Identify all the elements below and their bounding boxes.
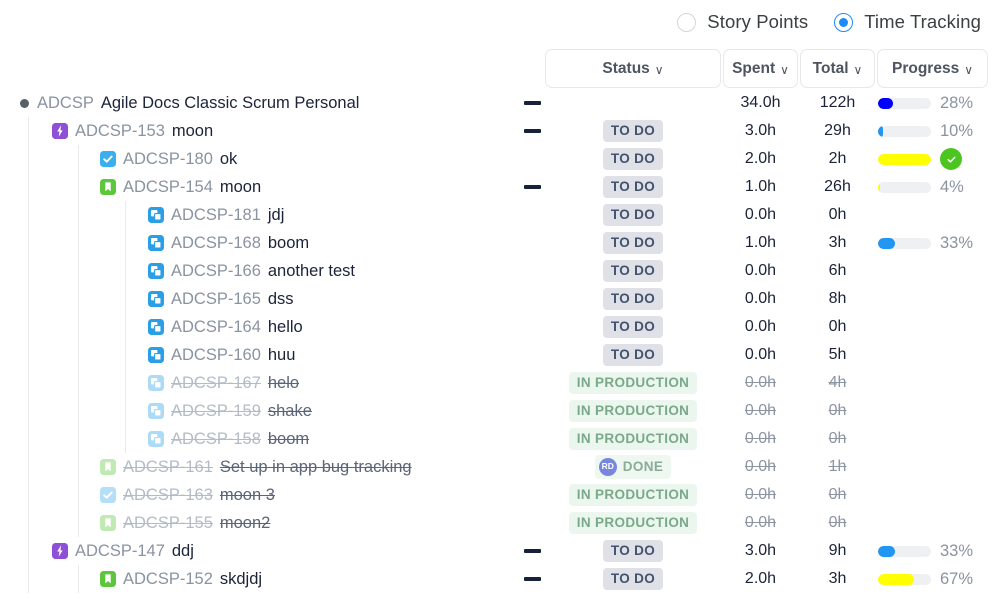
task-icon [100, 151, 116, 167]
status-cell: TO DO [545, 260, 721, 282]
progress-bar-fill [878, 154, 931, 165]
status-cell: TO DO [545, 316, 721, 338]
issue-row[interactable]: ADCSP-163moon 3IN PRODUCTION0.0h0h [0, 481, 999, 509]
status-badge[interactable]: IN PRODUCTION [569, 400, 698, 422]
subtask-icon [148, 207, 164, 223]
issue-row[interactable]: ADCSP-159shakeIN PRODUCTION0.0h0h [0, 397, 999, 425]
total-value: 5h [800, 346, 875, 364]
issue-title-cell[interactable]: ADCSP-168boom [148, 234, 309, 253]
issue-summary[interactable]: huu [268, 346, 296, 365]
status-cell: IN PRODUCTION [545, 372, 721, 394]
status-badge-label: TO DO [611, 263, 655, 279]
progress-cell: 28% [878, 94, 993, 113]
status-badge-label: TO DO [611, 543, 655, 559]
issue-title-cell[interactable]: ADCSPAgile Docs Classic Scrum Personal [20, 94, 359, 113]
issue-summary[interactable]: moon 3 [220, 486, 275, 505]
issue-key[interactable]: ADCSP-180 [123, 150, 213, 169]
issue-row[interactable]: ADCSP-180okTO DO2.0h2h [0, 145, 999, 173]
total-value: 3h [800, 234, 875, 252]
issue-title-cell[interactable]: ADCSP-180ok [100, 150, 237, 169]
issue-key[interactable]: ADCSP-166 [171, 262, 261, 281]
issue-row[interactable]: ADCSP-164helloTO DO0.0h0h [0, 313, 999, 341]
total-value: 9h [800, 542, 875, 560]
issue-title-cell[interactable]: ADCSP-152skdjdj [100, 570, 262, 589]
subtask-icon [148, 291, 164, 307]
status-badge[interactable]: IN PRODUCTION [569, 484, 698, 506]
spent-value: 0.0h [723, 402, 798, 420]
issue-row[interactable]: ADCSP-168boomTO DO1.0h3h33% [0, 229, 999, 257]
total-value: 0h [800, 402, 875, 420]
issue-title-cell[interactable]: ADCSP-159shake [148, 402, 312, 421]
issue-key[interactable]: ADCSP-164 [171, 318, 261, 337]
issue-title-cell[interactable]: ADCSP-181jdj [148, 206, 284, 225]
status-badge-label: IN PRODUCTION [577, 403, 690, 419]
status-badge-label: IN PRODUCTION [577, 515, 690, 531]
progress-bar-track [878, 546, 931, 557]
subtask-icon [148, 235, 164, 251]
issue-summary[interactable]: boom [268, 234, 309, 253]
status-badge-label: TO DO [611, 291, 655, 307]
progress-cell: 33% [878, 234, 993, 253]
issue-title-cell[interactable]: ADCSP-154moon [100, 178, 261, 197]
issue-summary[interactable]: moon2 [220, 514, 270, 533]
total-value: 6h [800, 262, 875, 280]
total-value: 122h [800, 94, 875, 112]
status-badge[interactable]: TO DO [603, 148, 663, 170]
subtask-icon [148, 319, 164, 335]
progress-percent: 33% [940, 234, 973, 253]
total-value: 0h [800, 206, 875, 224]
status-badge-label: TO DO [611, 151, 655, 167]
progress-bar-fill [878, 574, 914, 585]
status-badge-label: DONE [623, 459, 663, 475]
issue-key[interactable]: ADCSP-161 [123, 458, 213, 477]
status-badge-label: TO DO [611, 179, 655, 195]
issue-title-cell[interactable]: ADCSP-163moon 3 [100, 486, 275, 505]
status-badge-label: TO DO [611, 571, 655, 587]
subtask-icon [148, 403, 164, 419]
status-badge[interactable]: TO DO [603, 540, 663, 562]
spent-value: 0.0h [723, 206, 798, 224]
issue-row[interactable]: ADCSP-155moon2IN PRODUCTION0.0h0h [0, 509, 999, 537]
issue-key[interactable]: ADCSP-153 [75, 122, 165, 141]
progress-percent: 67% [940, 570, 973, 589]
issue-row[interactable]: ADCSP-161Set up in app bug trackingRDDON… [0, 453, 999, 481]
progress-bar-track [878, 98, 931, 109]
status-cell: TO DO [545, 120, 721, 142]
status-badge[interactable]: IN PRODUCTION [569, 512, 698, 534]
issue-summary[interactable]: boom [268, 430, 309, 449]
status-badge-label: IN PRODUCTION [577, 431, 690, 447]
status-badge[interactable]: TO DO [603, 204, 663, 226]
issue-title-cell[interactable]: ADCSP-164hello [148, 318, 303, 337]
issue-row[interactable]: ADCSP-160huuTO DO0.0h5h [0, 341, 999, 369]
progress-bar-fill [878, 126, 883, 137]
epic-icon [52, 123, 68, 139]
issue-key[interactable]: ADCSP-165 [171, 290, 261, 309]
progress-percent: 4% [940, 178, 964, 197]
issue-row[interactable]: ADCSP-152skdjdjTO DO2.0h3h67% [0, 565, 999, 593]
complete-check-icon [940, 148, 962, 170]
issue-row[interactable]: ADCSP-158boomIN PRODUCTION0.0h0h [0, 425, 999, 453]
issue-title-cell[interactable]: ADCSP-161Set up in app bug tracking [100, 458, 412, 477]
bullet-icon [20, 99, 29, 108]
progress-bar-fill [878, 238, 895, 249]
issue-summary[interactable]: another test [268, 262, 355, 281]
status-cell: TO DO [545, 540, 721, 562]
issue-row[interactable]: ADCSP-181jdjTO DO0.0h0h [0, 201, 999, 229]
status-cell: TO DO [545, 176, 721, 198]
status-badge-label: TO DO [611, 123, 655, 139]
collapse-dash-icon[interactable] [524, 577, 541, 581]
issue-row[interactable]: ADCSP-166another testTO DO0.0h6h [0, 257, 999, 285]
total-value: 0h [800, 430, 875, 448]
issue-key[interactable]: ADCSP-155 [123, 514, 213, 533]
progress-cell: 10% [878, 122, 993, 141]
issue-title-cell[interactable]: ADCSP-158boom [148, 430, 309, 449]
spent-value: 2.0h [723, 570, 798, 588]
spent-value: 0.0h [723, 318, 798, 336]
total-value: 2h [800, 150, 875, 168]
issue-summary[interactable]: ok [220, 150, 237, 169]
spent-value: 0.0h [723, 430, 798, 448]
issue-key[interactable]: ADCSP-154 [123, 178, 213, 197]
progress-bar-track [878, 126, 931, 137]
progress-percent: 28% [940, 94, 973, 113]
collapse-dash-icon[interactable] [524, 185, 541, 189]
story-icon [100, 459, 116, 475]
progress-bar-track [878, 182, 931, 193]
issue-row[interactable]: ADCSP-147ddjTO DO3.0h9h33% [0, 537, 999, 565]
issue-key[interactable]: ADCSP-159 [171, 402, 261, 421]
status-badge-label: TO DO [611, 347, 655, 363]
issue-summary[interactable]: helo [268, 374, 299, 393]
progress-percent: 10% [940, 122, 973, 141]
status-badge[interactable]: TO DO [603, 176, 663, 198]
subtask-icon [148, 263, 164, 279]
issue-summary[interactable]: hello [268, 318, 303, 337]
avatar: RD [599, 458, 617, 476]
status-cell: IN PRODUCTION [545, 484, 721, 506]
spent-value: 34.0h [723, 94, 798, 112]
issue-title-cell[interactable]: ADCSP-167helo [148, 374, 299, 393]
issue-key[interactable]: ADCSP-163 [123, 486, 213, 505]
status-cell: RDDONE [545, 455, 721, 479]
status-cell: TO DO [545, 232, 721, 254]
spent-value: 0.0h [723, 290, 798, 308]
progress-cell: 67% [878, 570, 993, 589]
spent-value: 0.0h [723, 374, 798, 392]
story-icon [100, 515, 116, 531]
status-badge[interactable]: IN PRODUCTION [569, 428, 698, 450]
status-badge[interactable]: TO DO [603, 232, 663, 254]
issue-summary[interactable]: shake [268, 402, 312, 421]
issue-row[interactable]: ADCSP-165dssTO DO0.0h8h [0, 285, 999, 313]
status-badge[interactable]: TO DO [603, 120, 663, 142]
issue-row[interactable]: ADCSP-167heloIN PRODUCTION0.0h4h [0, 369, 999, 397]
progress-cell: 33% [878, 542, 993, 561]
issue-summary[interactable]: jdj [268, 206, 285, 225]
status-cell: TO DO [545, 148, 721, 170]
issue-key[interactable]: ADCSP-160 [171, 346, 261, 365]
spent-value: 0.0h [723, 514, 798, 532]
spent-value: 0.0h [723, 486, 798, 504]
spent-value: 3.0h [723, 542, 798, 560]
collapse-dash-icon[interactable] [524, 549, 541, 553]
issue-row[interactable]: ADCSP-154moonTO DO1.0h26h4% [0, 173, 999, 201]
progress-percent: 33% [940, 542, 973, 561]
spent-value: 0.0h [723, 346, 798, 364]
total-value: 3h [800, 570, 875, 588]
issue-key[interactable]: ADCSP-147 [75, 542, 165, 561]
progress-bar-fill [878, 98, 893, 109]
total-value: 0h [800, 486, 875, 504]
task-icon [100, 487, 116, 503]
spent-value: 2.0h [723, 150, 798, 168]
status-badge-label: IN PRODUCTION [577, 375, 690, 391]
issue-title-cell[interactable]: ADCSP-165dss [148, 290, 294, 309]
progress-bar-track [878, 574, 931, 585]
issue-summary[interactable]: moon [220, 178, 261, 197]
status-badge[interactable]: TO DO [603, 316, 663, 338]
spent-value: 1.0h [723, 178, 798, 196]
issue-key[interactable]: ADCSP-152 [123, 570, 213, 589]
subtask-icon [148, 347, 164, 363]
issue-summary[interactable]: Set up in app bug tracking [220, 458, 412, 477]
progress-bar-fill [878, 546, 895, 557]
spent-value: 3.0h [723, 122, 798, 140]
total-value: 0h [800, 514, 875, 532]
issue-key[interactable]: ADCSP-168 [171, 234, 261, 253]
status-cell: TO DO [545, 204, 721, 226]
spent-value: 0.0h [723, 458, 798, 476]
issue-row[interactable]: ADCSP-153moonTO DO3.0h29h10% [0, 117, 999, 145]
status-badge[interactable]: IN PRODUCTION [569, 372, 698, 394]
status-cell: IN PRODUCTION [545, 512, 721, 534]
subtask-icon [148, 375, 164, 391]
issue-summary[interactable]: skdjdj [220, 570, 262, 589]
collapse-dash-icon[interactable] [524, 101, 541, 105]
status-badge[interactable]: TO DO [603, 288, 663, 310]
status-cell: TO DO [545, 568, 721, 590]
issue-title-cell[interactable]: ADCSP-160huu [148, 346, 295, 365]
total-value: 29h [800, 122, 875, 140]
status-cell: IN PRODUCTION [545, 400, 721, 422]
status-badge-label: IN PRODUCTION [577, 487, 690, 503]
collapse-dash-icon[interactable] [524, 129, 541, 133]
progress-bar-track [878, 238, 931, 249]
issue-title-cell[interactable]: ADCSP-166another test [148, 262, 355, 281]
subtask-icon [148, 431, 164, 447]
issue-key[interactable]: ADCSP-167 [171, 374, 261, 393]
story-icon [100, 179, 116, 195]
issue-key[interactable]: ADCSP [37, 94, 94, 113]
issue-summary[interactable]: moon [172, 122, 213, 141]
total-value: 26h [800, 178, 875, 196]
epic-icon [52, 543, 68, 559]
status-cell: TO DO [545, 288, 721, 310]
progress-cell: 4% [878, 178, 993, 197]
issue-summary[interactable]: ddj [172, 542, 194, 561]
issue-summary[interactable]: Agile Docs Classic Scrum Personal [101, 94, 360, 113]
total-value: 4h [800, 374, 875, 392]
issue-title-cell[interactable]: ADCSP-155moon2 [100, 514, 270, 533]
issue-tree: ADCSPAgile Docs Classic Scrum Personal34… [0, 89, 999, 593]
issue-key[interactable]: ADCSP-181 [171, 206, 261, 225]
status-badge[interactable]: RDDONE [595, 455, 671, 479]
status-badge[interactable]: TO DO [603, 568, 663, 590]
total-value: 0h [800, 318, 875, 336]
status-cell: TO DO [545, 344, 721, 366]
progress-bar-track [878, 154, 931, 165]
progress-cell [878, 148, 993, 170]
status-badge[interactable]: TO DO [603, 260, 663, 282]
issue-key[interactable]: ADCSP-158 [171, 430, 261, 449]
total-value: 1h [800, 458, 875, 476]
issue-title-cell[interactable]: ADCSP-153moon [52, 122, 213, 141]
status-badge-label: TO DO [611, 235, 655, 251]
status-badge-label: TO DO [611, 319, 655, 335]
progress-bar-fill [878, 182, 880, 193]
status-badge[interactable]: TO DO [603, 344, 663, 366]
story-icon [100, 571, 116, 587]
total-value: 8h [800, 290, 875, 308]
spent-value: 0.0h [723, 262, 798, 280]
status-badge-label: TO DO [611, 207, 655, 223]
status-cell: IN PRODUCTION [545, 428, 721, 450]
issue-title-cell[interactable]: ADCSP-147ddj [52, 542, 194, 561]
issue-row[interactable]: ADCSPAgile Docs Classic Scrum Personal34… [0, 89, 999, 117]
issue-summary[interactable]: dss [268, 290, 294, 309]
spent-value: 1.0h [723, 234, 798, 252]
